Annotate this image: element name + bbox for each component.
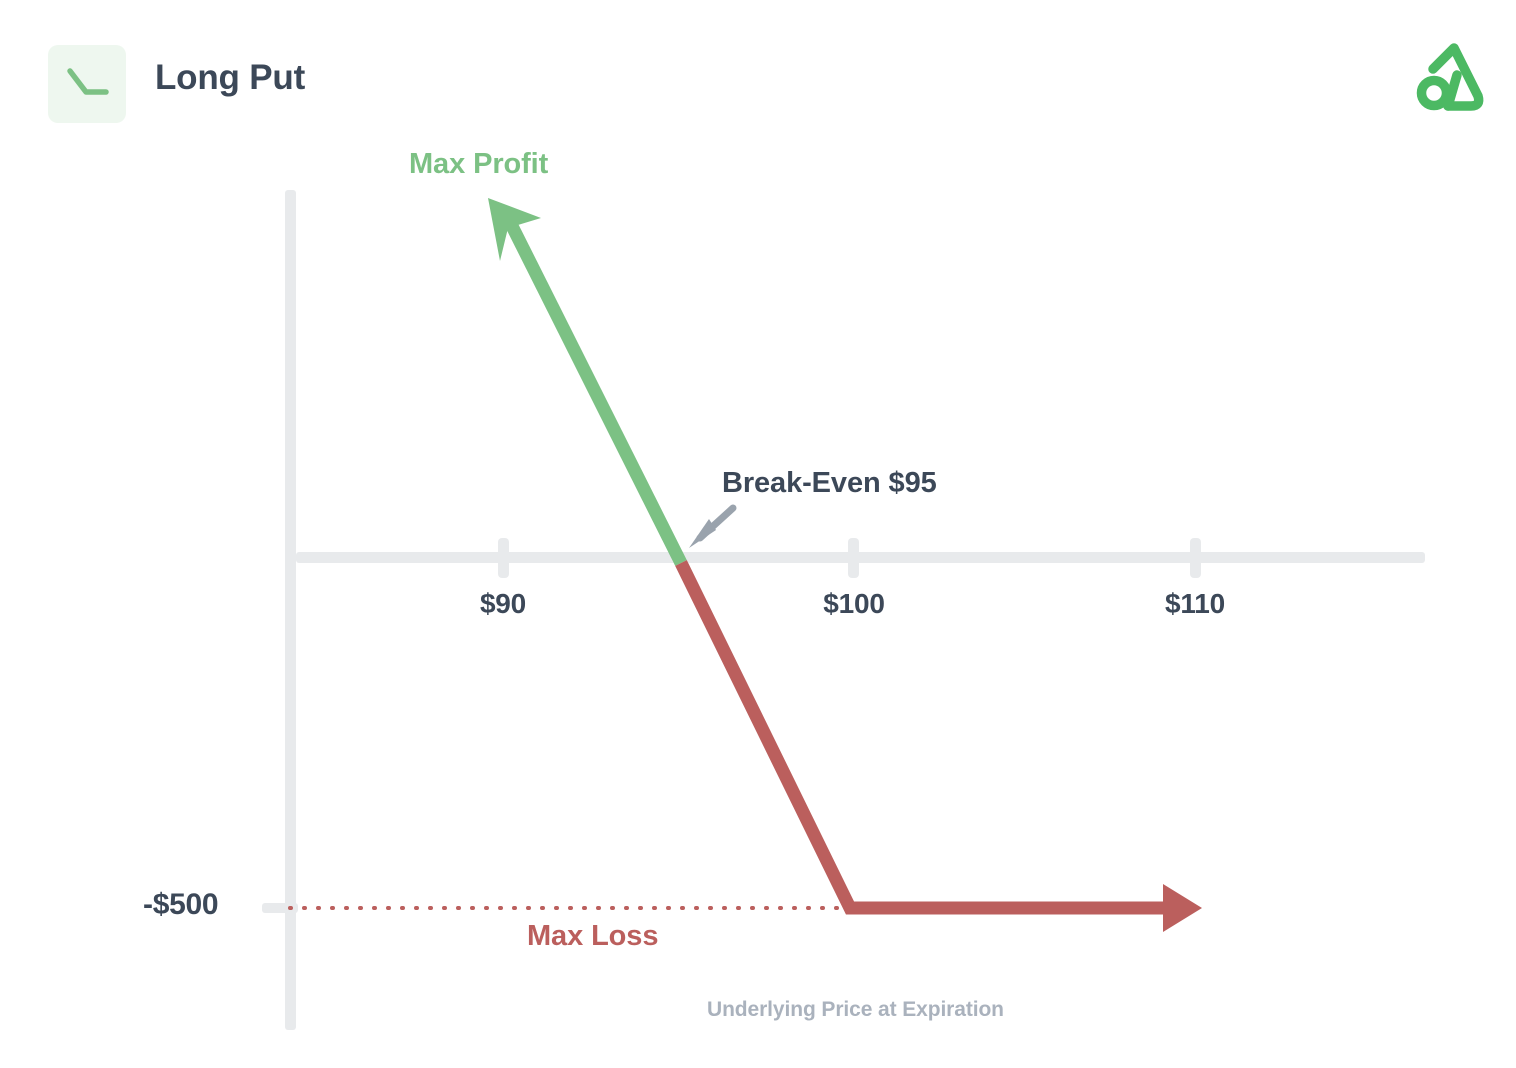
x-tick-110 bbox=[1190, 538, 1201, 578]
payoff-chart-svg bbox=[0, 0, 1516, 1068]
x-tick-90 bbox=[498, 538, 509, 578]
loss-line bbox=[681, 563, 1202, 932]
break-even-label: Break-Even $95 bbox=[722, 467, 937, 500]
x-tick-label-100: $100 bbox=[823, 588, 885, 620]
max-profit-label: Max Profit bbox=[409, 148, 548, 181]
max-loss-arrowhead bbox=[1163, 884, 1202, 932]
x-tick-100 bbox=[848, 538, 859, 578]
payoff-chart: Max Profit Break-Even $95 Max Loss $90 $… bbox=[0, 0, 1516, 1068]
x-axis-title: Underlying Price at Expiration bbox=[707, 998, 1004, 1022]
x-tick-label-110: $110 bbox=[1165, 588, 1225, 620]
profit-line bbox=[488, 198, 681, 563]
x-axis-line bbox=[296, 552, 1425, 563]
max-loss-label: Max Loss bbox=[527, 920, 658, 953]
x-tick-label-90: $90 bbox=[480, 588, 526, 620]
y-tick-label-minus-500: -$500 bbox=[143, 888, 218, 922]
break-even-pointer-arrow bbox=[689, 508, 733, 548]
